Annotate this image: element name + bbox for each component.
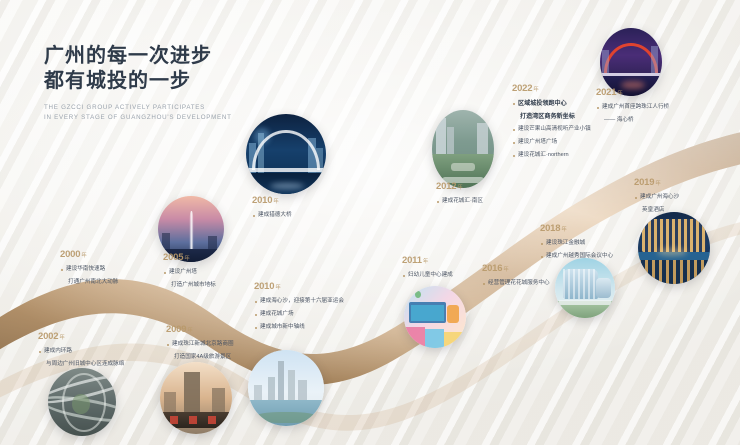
photo-congress-center[interactable] <box>555 258 615 318</box>
milestone-line: 建成广州海心沙 <box>634 193 679 203</box>
milestone-flower-city-service-center[interactable]: 2016年 经营管理花花城服务中心 <box>482 264 550 288</box>
milestone-line: 区域城投领跑中心 <box>512 99 591 109</box>
heading-line-1: 广州的每一次进步 <box>44 44 232 69</box>
milestone-year: 2009年 <box>166 325 234 336</box>
heading-line-2: 都有城投的一步 <box>44 69 232 94</box>
subtitle-line-2: IN EVERY STAGE OF GUANGZHOU'S DEVELOPMEN… <box>44 113 232 123</box>
milestone-huanan-expressway[interactable]: 2000年 建设华南快速路 打通广州南北大动脉 <box>60 250 118 287</box>
milestone-line: 建设广州塔 <box>163 268 216 278</box>
milestone-line: 建设广州塔广场 <box>512 138 591 148</box>
milestone-year: 2010年 <box>252 196 292 207</box>
milestone-line: 英皇酒店 <box>634 206 679 216</box>
milestone-line: 妇幼儿童中心建成 <box>402 271 453 281</box>
milestone-year: 2002年 <box>38 332 124 343</box>
photo-liede-bridge[interactable] <box>246 114 326 194</box>
milestone-line: 打通广州南北大动脉 <box>60 278 118 288</box>
milestone-line: 建设珠江金融城 <box>540 239 613 249</box>
milestone-line: 打造国家4A级旅游景区 <box>166 353 234 363</box>
milestone-line: 与周边广州旧城中心区连成脉络 <box>38 360 124 370</box>
milestone-line: 建成花城广场 <box>254 310 344 320</box>
milestone-haixin-bridge[interactable]: 2021年 建成广州首座跨珠江人行桥 —— 海心桥 <box>596 88 669 125</box>
milestone-asian-games[interactable]: 2010年 建成海心沙，迎接第十六届亚运会 建成花城广场 建成城市新中轴线 <box>254 282 344 332</box>
photo-huacheng-plaza[interactable] <box>432 110 494 188</box>
milestone-year: 2000年 <box>60 250 118 261</box>
milestone-year: 2012年 <box>436 182 483 193</box>
milestone-year: 2011年 <box>402 256 453 267</box>
photo-interchange[interactable] <box>48 368 116 436</box>
milestone-year: 2010年 <box>254 282 344 293</box>
milestone-line: 建设花城汇·northern <box>512 151 591 161</box>
photo-womens-center[interactable] <box>404 286 466 348</box>
milestone-line: 建设芒果山高清视听产业小镇 <box>512 125 591 135</box>
milestone-canton-tower[interactable]: 2005年 建设广州塔 打造广州城市地标 <box>163 253 216 290</box>
milestone-line: 建成内环路 <box>38 347 124 357</box>
milestone-line: 建设华南快速路 <box>60 265 118 275</box>
milestone-year: 2016年 <box>482 264 550 275</box>
milestone-inner-ring-road[interactable]: 2002年 建成内环路 与周边广州旧城中心区连成脉络 <box>38 332 124 369</box>
milestone-line: 建成广州首座跨珠江人行桥 <box>596 103 669 113</box>
milestone-year: 2019年 <box>634 178 679 189</box>
milestone-year: 2005年 <box>163 253 216 264</box>
milestone-womens-children-center[interactable]: 2011年 妇幼儿童中心建成 <box>402 256 453 280</box>
milestone-line: 打造广州城市地标 <box>163 281 216 291</box>
milestone-line: 打造湾区商务新坐标 <box>512 112 591 122</box>
milestone-line: 建成广州越秀国际会议中心 <box>540 252 613 262</box>
photo-haixin-bridge[interactable] <box>600 28 662 96</box>
milestone-haixin-hotel[interactable]: 2019年 建成广州海心沙 英皇酒店 <box>634 178 679 215</box>
milestone-line: 建成城市新中轴线 <box>254 323 344 333</box>
poster-canvas: 广州的每一次进步 都有城投的一步 THE GZCCI GROUP ACTIVEL… <box>0 0 740 445</box>
milestone-year: 2021年 <box>596 88 669 99</box>
photo-haixin-hotel[interactable] <box>638 212 710 284</box>
milestone-line: —— 海心桥 <box>596 116 669 126</box>
milestone-international-congress-center[interactable]: 2018年 建设珠江金融城 建成广州越秀国际会议中心 <box>540 224 613 261</box>
milestone-year: 2022年 <box>512 84 591 95</box>
milestone-year: 2018年 <box>540 224 613 235</box>
milestone-line: 建成海心沙，迎接第十六届亚运会 <box>254 297 344 307</box>
poster-heading: 广州的每一次进步 都有城投的一步 THE GZCCI GROUP ACTIVEL… <box>44 44 232 123</box>
milestone-line: 建成花城汇·南区 <box>436 197 483 207</box>
milestone-beijing-road[interactable]: 2009年 建成珠江新城北京路商圈 打造国家4A级旅游景区 <box>166 325 234 362</box>
milestone-line: 经营管理花花城服务中心 <box>482 279 550 289</box>
milestone-liede-bridge[interactable]: 2010年 建成猎德大桥 <box>252 196 292 220</box>
milestone-bay-area-hub[interactable]: 2022年 区域城投领跑中心 打造湾区商务新坐标 建设芒果山高清视听产业小镇 建… <box>512 84 591 160</box>
photo-skyline-day[interactable] <box>248 350 324 426</box>
milestone-huacheng-hui[interactable]: 2012年 建成花城汇·南区 <box>436 182 483 206</box>
photo-beijing-road[interactable] <box>160 362 232 434</box>
subtitle-line-1: THE GZCCI GROUP ACTIVELY PARTICIPATES <box>44 103 232 113</box>
milestone-line: 建成珠江新城北京路商圈 <box>166 340 234 350</box>
milestone-line: 建成猎德大桥 <box>252 211 292 221</box>
